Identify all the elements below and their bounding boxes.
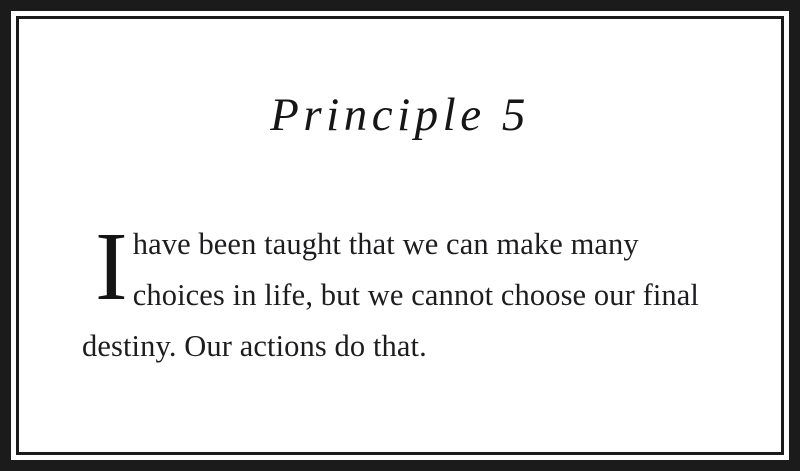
quote-block: Ihave been taught that we can make many …	[82, 219, 723, 372]
principle-card-outer-frame: Principle 5 Ihave been taught that we ca…	[0, 0, 800, 471]
quote-body-text: have been taught that we can make many c…	[82, 227, 699, 363]
drop-cap-letter: I	[82, 219, 133, 311]
principle-card-frame-gap: Principle 5 Ihave been taught that we ca…	[11, 11, 789, 460]
principle-card-body: Principle 5 Ihave been taught that we ca…	[19, 19, 781, 452]
page-title: Principle 5	[19, 91, 781, 140]
principle-card-inner-rule: Principle 5 Ihave been taught that we ca…	[16, 16, 784, 455]
quote-paragraph: Ihave been taught that we can make many …	[82, 219, 723, 372]
